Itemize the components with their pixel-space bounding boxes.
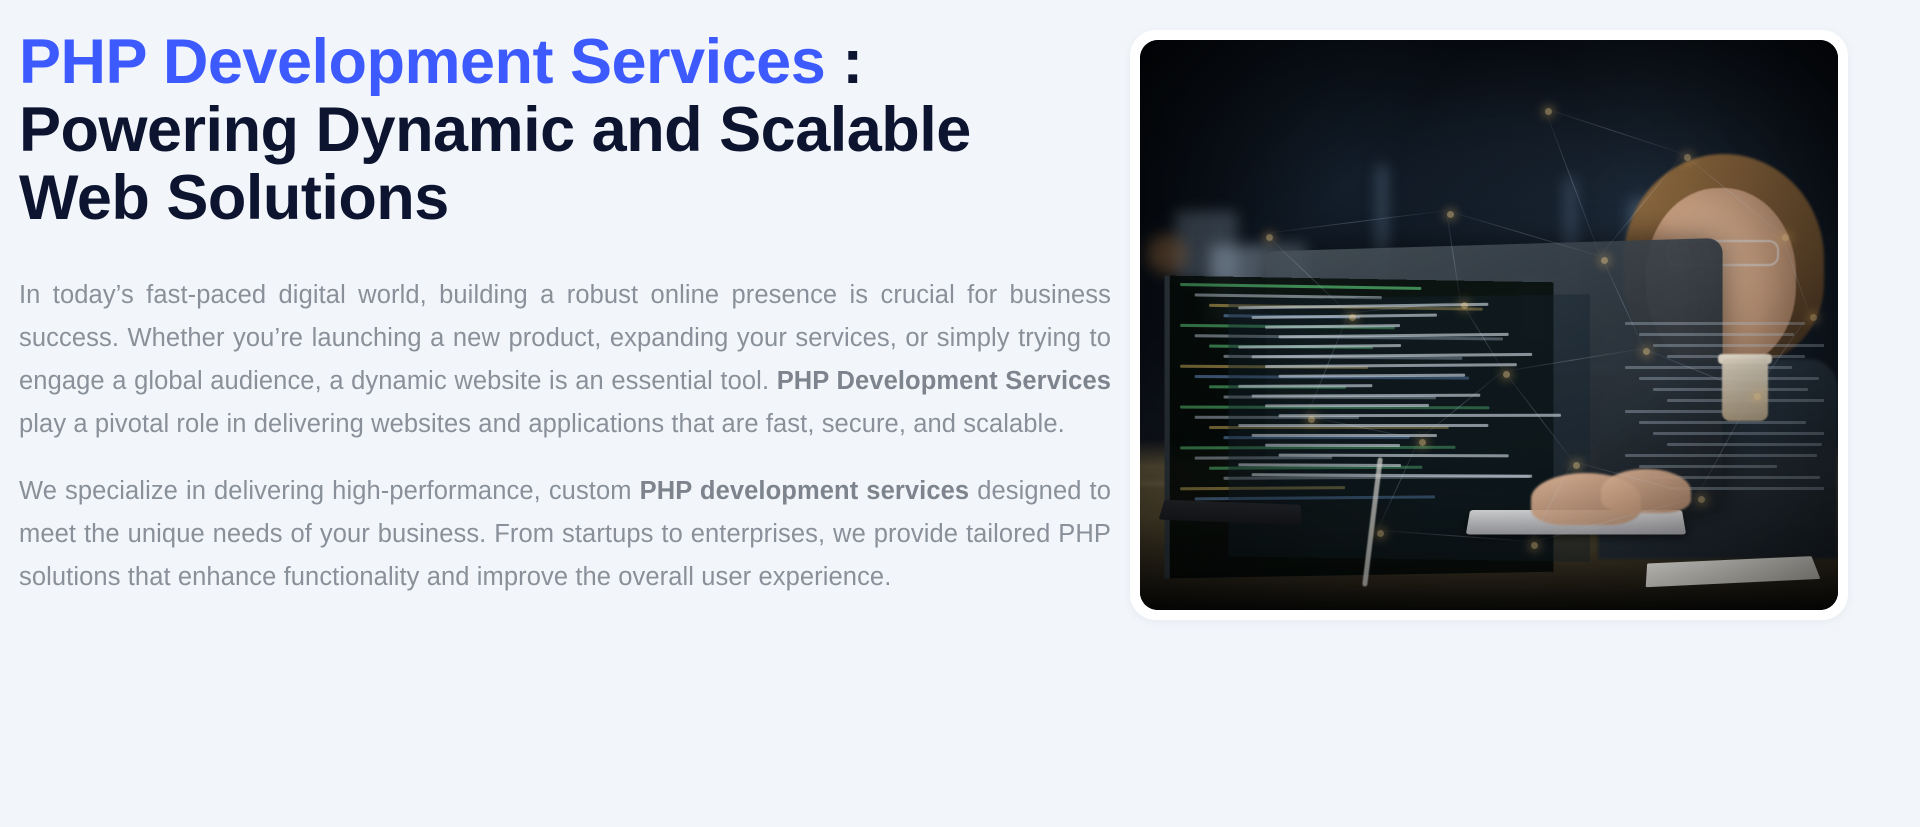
mesh-edge bbox=[1545, 108, 1685, 155]
page-title-colon: : bbox=[825, 27, 862, 97]
mesh-node bbox=[1419, 439, 1426, 446]
body-copy: In today’s fast-paced digital world, bui… bbox=[19, 274, 1111, 599]
emphasis-text: PHP Development Services bbox=[777, 367, 1111, 395]
body-text: play a pivotal role in delivering websit… bbox=[19, 410, 1065, 438]
network-mesh-overlay bbox=[1140, 40, 1838, 610]
mesh-edge bbox=[1698, 393, 1755, 496]
mesh-edge bbox=[1349, 301, 1461, 313]
paragraph-2: We specialize in delivering high-perform… bbox=[19, 470, 1111, 599]
mesh-node bbox=[1754, 393, 1761, 400]
emphasis-text: PHP development services bbox=[640, 477, 970, 505]
mesh-node bbox=[1698, 496, 1705, 503]
mesh-edge bbox=[1781, 234, 1810, 314]
page-title-rest: Powering Dynamic and Scalable Web Soluti… bbox=[19, 95, 971, 233]
mesh-edge bbox=[1307, 416, 1419, 440]
mesh-edge bbox=[1753, 313, 1810, 393]
mesh-edge bbox=[1573, 461, 1699, 496]
mesh-edge bbox=[1600, 153, 1685, 256]
page-title-accent: PHP Development Services bbox=[19, 27, 825, 97]
paragraph-1: In today’s fast-paced digital world, bui… bbox=[19, 274, 1111, 446]
page-title: PHP Development Services : Powering Dyna… bbox=[19, 28, 1109, 232]
hero-image-frame bbox=[1140, 40, 1838, 610]
mesh-edge bbox=[1530, 461, 1573, 541]
mesh-edge bbox=[1307, 313, 1350, 416]
body-text: We specialize in delivering high-perform… bbox=[19, 477, 640, 505]
mesh-node bbox=[1377, 530, 1384, 537]
mesh-edge bbox=[1266, 210, 1448, 234]
mesh-edge bbox=[1446, 211, 1461, 302]
mesh-node bbox=[1349, 314, 1356, 321]
mesh-edge bbox=[1503, 370, 1574, 462]
mesh-edge bbox=[1419, 371, 1503, 440]
page-root: PHP Development Services : Powering Dyna… bbox=[0, 0, 1920, 827]
mesh-edge bbox=[1531, 496, 1699, 543]
mesh-edge bbox=[1265, 234, 1349, 315]
media-column bbox=[1130, 0, 1920, 827]
mesh-edge bbox=[1544, 108, 1601, 257]
hero-image-card bbox=[1130, 30, 1848, 620]
content-column: PHP Development Services : Powering Dyna… bbox=[0, 0, 1130, 599]
mesh-edge bbox=[1461, 302, 1504, 371]
mesh-edge bbox=[1447, 210, 1601, 257]
mesh-edge bbox=[1601, 256, 1644, 348]
mesh-edge bbox=[1377, 439, 1420, 531]
mesh-edge bbox=[1503, 348, 1643, 372]
mesh-node bbox=[1810, 314, 1817, 321]
mesh-edge bbox=[1684, 154, 1782, 235]
mesh-edge bbox=[1377, 529, 1531, 541]
mesh-edge bbox=[1642, 348, 1754, 395]
hero-photo bbox=[1140, 40, 1838, 610]
